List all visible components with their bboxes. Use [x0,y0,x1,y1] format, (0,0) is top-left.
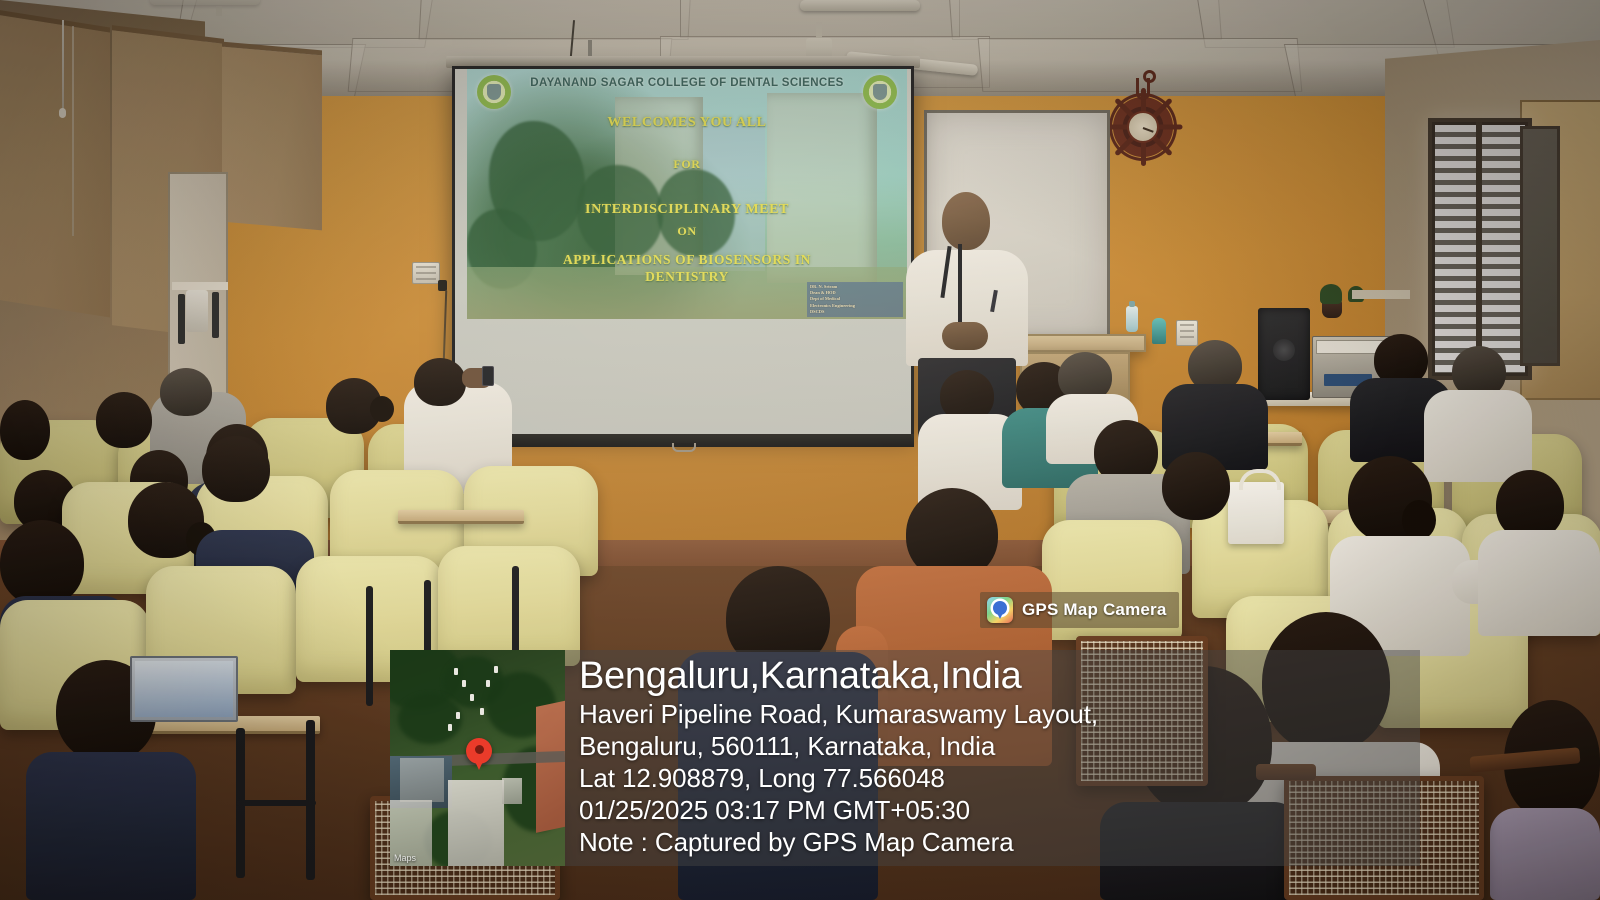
hair-bun [1402,500,1436,540]
laptop-screen [135,661,233,717]
gps-note: Note : Captured by GPS Map Camera [579,826,1420,858]
window-glass-panel [1520,126,1560,366]
anchor-icon [1136,78,1150,100]
attendee-head [202,436,270,502]
presenter-head [942,192,990,250]
sanitizer-bottle [1126,306,1138,332]
wall-switch-right[interactable] [1176,320,1198,346]
gps-timestamp: 01/25/2025 03:17 PM GMT+05:30 [579,794,1420,826]
seat [438,546,580,666]
attendee-head [0,520,84,606]
screen-surface: DAYANAND SAGAR COLLEGE OF DENTAL SCIENCE… [455,69,911,434]
blind-cord-2 [72,26,74,236]
statue-ornament [1152,318,1166,344]
map-location-pin-icon [466,738,492,764]
presenter-hands [942,322,988,350]
blind-cord-1 [62,20,64,112]
gps-coordinates: Lat 12.908879, Long 77.566048 [579,762,1420,794]
gps-map-thumbnail[interactable]: Maps [390,650,565,866]
slide-welcome-line: WELCOMES YOU ALL [467,115,907,131]
wall-bracket-left-2 [212,292,219,338]
gps-location-title: Bengaluru,Karnataka,India [579,654,1420,698]
photo-canvas: DAYANAND SAGAR COLLEGE OF DENTAL SCIENCE… [0,0,1600,900]
desk [398,510,524,524]
slide-presenter-credit: DR. N. Sriram Dean & HOD Dept of Medical… [807,282,903,317]
gps-badge-label: GPS Map Camera [1022,600,1167,620]
clock-face [1127,111,1159,143]
wall-equipment-left [186,290,208,332]
attendee-head [160,368,212,416]
audio-speaker-icon [1258,308,1310,400]
attendee-body [26,752,196,900]
presenter-lanyard [958,244,962,322]
laptop[interactable] [130,656,238,722]
gps-address-line-1: Haveri Pipeline Road, Kumaraswamy Layout… [579,698,1420,730]
gps-info-panel: Maps Bengaluru,Karnataka,India Haveri Pi… [390,650,1420,866]
blind-knob-1 [59,108,66,118]
roller-blind-1 [0,8,110,317]
map-watermark: Maps [394,853,416,863]
smartphone[interactable] [482,366,494,386]
slide-institution-title: DAYANAND SAGAR COLLEGE OF DENTAL SCIENCE… [467,77,907,89]
roller-blind-3 [222,42,322,231]
plant-leaf [1320,284,1342,304]
attendee-body [1490,808,1600,900]
attendee-body [1424,390,1532,482]
slide-on-line: ON [467,224,907,239]
wall-bracket-left [178,294,185,344]
map-pin-icon [987,597,1013,623]
slide-topic-line-1: APPLICATIONS OF BIOSENSORS IN [467,252,907,268]
chair-rail [236,800,316,806]
projection-screen: DAYANAND SAGAR COLLEGE OF DENTAL SCIENCE… [452,66,914,434]
attendee-head [414,358,466,406]
hair-bun [370,396,394,422]
attendee-head [0,400,50,460]
gps-text-block: Bengaluru,Karnataka,India Haveri Pipelin… [565,650,1420,866]
gps-address-line-2: Bengaluru, 560111, Karnataka, India [579,730,1420,762]
attendee-head [96,392,152,448]
slide-for-line: FOR [467,157,907,172]
chair-leg [366,586,373,706]
screen-pull-handle[interactable] [672,443,696,452]
presentation-slide: DAYANAND SAGAR COLLEGE OF DENTAL SCIENCE… [467,69,907,319]
tote-bag [1228,482,1284,544]
wall-shelf-left [172,282,228,290]
wall-ledge-right [1352,290,1410,299]
attendee-body [1478,530,1600,636]
gps-map-camera-badge: GPS Map Camera [980,592,1179,628]
wall-switchboard[interactable] [412,262,440,284]
louvered-window [1428,118,1532,380]
attendee-head [1162,452,1230,520]
slide-event-line: INTERDISCIPLINARY MEET [467,202,907,218]
